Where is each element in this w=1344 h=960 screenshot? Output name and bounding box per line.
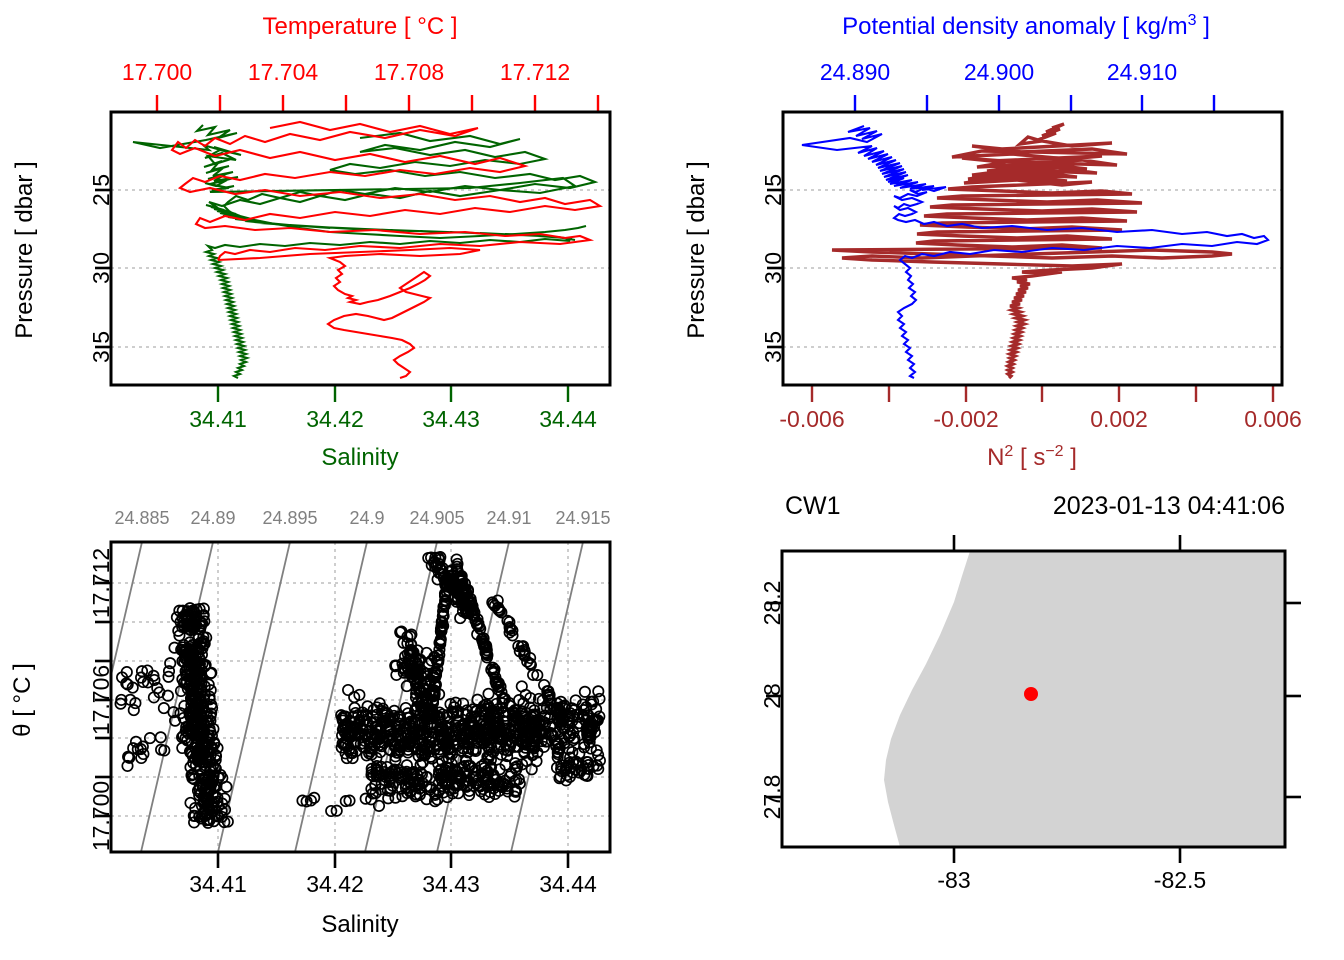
salinity-axis-ticks xyxy=(218,385,568,402)
theta-axis-title: θ [ °C ] xyxy=(9,663,36,737)
panel-theta-salinity-diagram: 24.885 24.89 24.895 24.9 24.905 24.91 24… xyxy=(0,480,672,960)
station-dot xyxy=(1024,687,1038,701)
temperature-tick-label: 17.704 xyxy=(248,59,319,85)
map-top-ticks xyxy=(954,535,1180,551)
ts-point xyxy=(593,686,603,696)
density-axis-title-main: Potential density anomaly [ kg/m xyxy=(842,13,1188,40)
density-tick-labels: 24.890 24.900 24.910 xyxy=(820,59,1177,85)
salinity-tick-label: 34.42 xyxy=(306,406,364,432)
pressure-gridlines xyxy=(111,190,610,347)
ts-salinity-axis-title: Salinity xyxy=(321,911,398,938)
isopycnal-label: 24.89 xyxy=(190,508,235,528)
map-right-ticks xyxy=(1285,603,1301,797)
ts-salinity-tick-label: 34.42 xyxy=(306,871,364,897)
station-label: CW1 xyxy=(785,492,841,520)
n2-tick-label: 0.002 xyxy=(1090,406,1148,432)
map-longitude-label: -82.5 xyxy=(1154,867,1206,893)
temperature-tick-label: 17.708 xyxy=(374,59,444,85)
ctd-summary-figure: Temperature [ °C ] 17.700 17.704 17.708 … xyxy=(0,0,1344,960)
salinity-trace-secondary xyxy=(224,133,595,238)
salinity-tick-label: 34.41 xyxy=(189,406,247,432)
panel-temperature-salinity-profile: Temperature [ °C ] 17.700 17.704 17.708 … xyxy=(0,0,672,480)
ts-salinity-tick-label: 34.41 xyxy=(189,871,247,897)
density-axis-title: Potential density anomaly [ kg/m3 ] xyxy=(842,12,1210,40)
density-tick-label: 24.890 xyxy=(820,59,890,85)
timestamp-label: 2023-01-13 04:41:06 xyxy=(1053,492,1285,520)
map-svg: CW1 2023-01-13 04:41:06 -83 -82.5 xyxy=(672,480,1344,960)
isopycnal-label: 24.9 xyxy=(349,508,384,528)
n2-tick-label: -0.006 xyxy=(779,406,844,432)
tsp-svg: Temperature [ °C ] 17.700 17.704 17.708 … xyxy=(0,0,672,480)
pressure-axis-title: Pressure [ dbar ] xyxy=(683,161,710,338)
temperature-axis-title: Temperature [ °C ] xyxy=(263,13,458,40)
temperature-axis-ticks xyxy=(157,95,598,112)
isopycnal-label: 24.915 xyxy=(555,508,610,528)
panel-density-n2-profile: Potential density anomaly [ kg/m3 ] 24.8… xyxy=(672,0,1344,480)
ts-point xyxy=(129,705,139,715)
ts-point xyxy=(159,703,169,713)
temperature-tick-label: 17.700 xyxy=(122,59,192,85)
map-longitude-label: -83 xyxy=(937,867,970,893)
density-tick-label: 24.910 xyxy=(1107,59,1177,85)
n2-tick-labels: -0.006 -0.002 0.002 0.006 xyxy=(779,406,1301,432)
isopycnal-label: 24.885 xyxy=(114,508,169,528)
profile-traces xyxy=(133,122,600,378)
ts-point xyxy=(343,685,353,695)
theta-s-scatter xyxy=(115,552,605,828)
map-longitude-labels: -83 -82.5 xyxy=(937,867,1206,893)
n2-axis-title-mid: [ s xyxy=(1013,444,1045,471)
temperature-tick-labels: 17.700 17.704 17.708 17.712 xyxy=(122,59,570,85)
panel-station-map: CW1 2023-01-13 04:41:06 -83 -82.5 xyxy=(672,480,1344,960)
n2-axis-title-sup: 2 xyxy=(1004,443,1013,460)
ts-point xyxy=(580,687,590,697)
salinity-tick-label: 34.44 xyxy=(539,406,597,432)
n2-axis-title: N2 [ s−2 ] xyxy=(987,443,1077,471)
n2-tick-label: -0.002 xyxy=(933,406,998,432)
density-tick-label: 24.900 xyxy=(964,59,1034,85)
ts-point xyxy=(221,782,231,792)
salinity-tick-label: 34.43 xyxy=(422,406,480,432)
n2-axis-title-tail: ] xyxy=(1064,444,1077,471)
ts-salinity-tick-label: 34.43 xyxy=(422,871,480,897)
n2-axis-ticks xyxy=(812,385,1273,402)
isopycnal-label: 24.91 xyxy=(486,508,531,528)
salinity-axis-title: Salinity xyxy=(321,444,398,471)
salinity-tick-labels: 34.41 34.42 34.43 34.44 xyxy=(189,406,597,432)
isopycnal-labels: 24.885 24.89 24.895 24.9 24.905 24.91 24… xyxy=(114,508,610,528)
ts-salinity-tick-label: 34.44 xyxy=(539,871,597,897)
n2-axis-title-sup2: −2 xyxy=(1045,443,1063,460)
n2-axis-title-base: N xyxy=(987,444,1004,471)
ts-salinity-tick-labels: 34.41 34.42 34.43 34.44 xyxy=(189,871,597,897)
map-longitude-ticks xyxy=(954,847,1180,863)
isopycnal-lines xyxy=(70,542,583,852)
temperature-tick-label: 17.712 xyxy=(500,59,570,85)
isopycnal-label: 24.895 xyxy=(262,508,317,528)
isopycnal-label: 24.905 xyxy=(409,508,464,528)
ts-point xyxy=(390,793,400,803)
ts-point xyxy=(483,689,493,699)
pressure-axis-title: Pressure [ dbar ] xyxy=(11,161,38,338)
dn2-svg: Potential density anomaly [ kg/m3 ] 24.8… xyxy=(672,0,1344,480)
n2-tick-label: 0.006 xyxy=(1244,406,1302,432)
density-axis-title-tail: ] xyxy=(1197,13,1210,40)
ts-salinity-axis-ticks xyxy=(218,852,568,868)
ts-svg: 24.885 24.89 24.895 24.9 24.905 24.91 24… xyxy=(0,480,672,960)
density-axis-ticks xyxy=(855,95,1214,112)
density-axis-title-sup: 3 xyxy=(1188,12,1197,29)
profile-traces xyxy=(802,124,1268,378)
